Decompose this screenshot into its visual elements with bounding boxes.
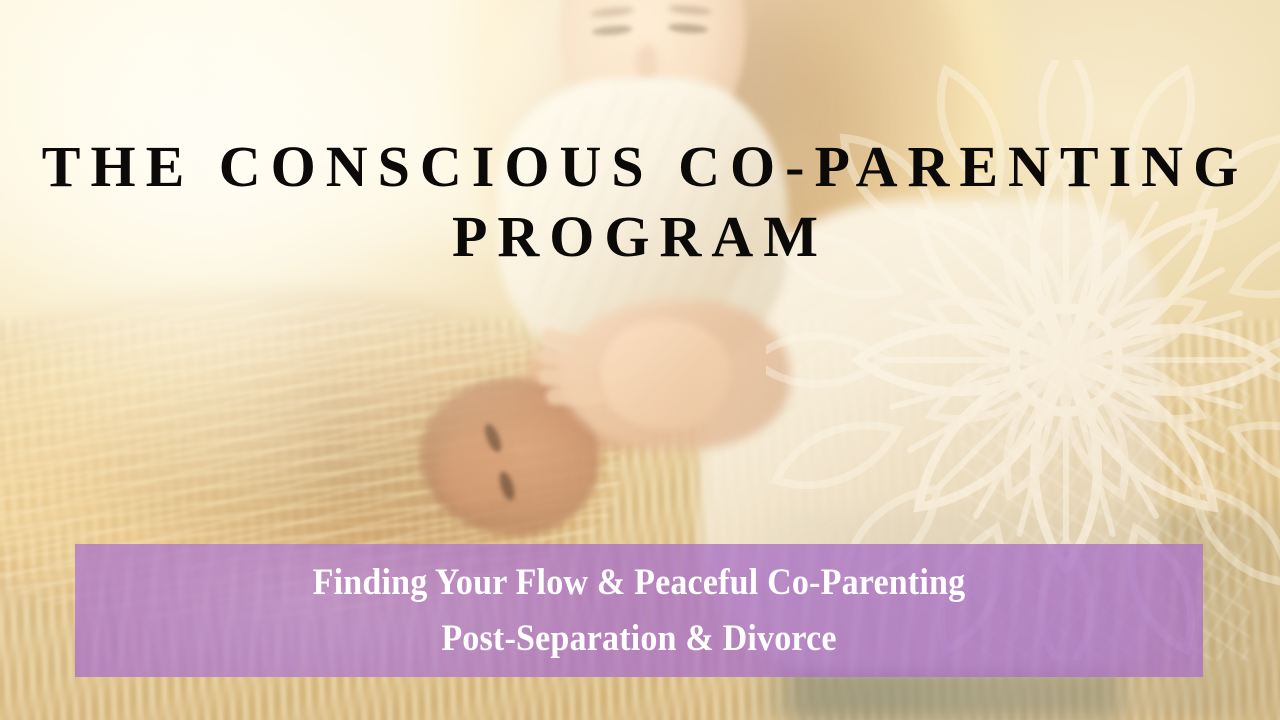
subtitle-line-1: Finding Your Flow & Peaceful Co-Parentin… [313,555,966,611]
page-title: THE CONSCIOUS CO-PARENTING PROGRAM [0,132,1280,272]
subtitle-line-2: Post-Separation & Divorce [441,611,836,667]
subtitle-text-group: Finding Your Flow & Peaceful Co-Parentin… [120,544,1158,677]
promo-banner-canvas: THE CONSCIOUS CO-PARENTING PROGRAM Findi… [0,0,1280,720]
subtitle-banner: Finding Your Flow & Peaceful Co-Parentin… [75,544,1203,677]
